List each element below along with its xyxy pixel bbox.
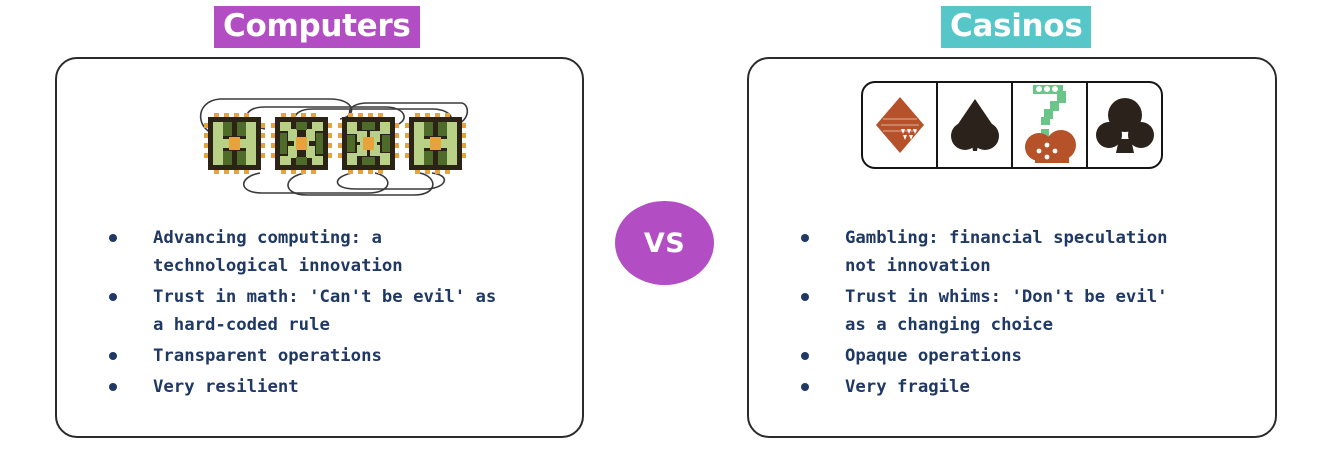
microchip-icon [338,113,399,174]
question-mark-and-heart-icon [1019,85,1081,165]
list-item-label: Very fragile [845,373,970,401]
club-icon [1094,89,1156,161]
slot-reel-cell-spade [938,83,1013,167]
left-panel-title: Computers [214,6,420,48]
slot-machine-illustration [749,81,1275,169]
bullet-point-icon [109,383,117,391]
networked-microchips-illustration [57,81,582,206]
bullet-point-icon [109,293,117,301]
right-panel-title: Casinos [941,6,1091,48]
versus-badge: VS [615,201,714,285]
list-item: Transparent operations [103,342,572,370]
spade-icon [944,89,1006,161]
list-item: Very fragile [795,373,1265,401]
bullet-point-icon [801,383,809,391]
bullet-point-icon [801,352,809,360]
computers-bullet-list: Advancing computing: a technological inn… [103,224,572,404]
list-item-label: Trust in whims: 'Don't be evil' as a cha… [845,283,1168,339]
list-item-label: Gambling: financial speculation not inno… [845,224,1168,280]
bullet-point-icon [109,234,117,242]
list-item-label: Very resilient [153,373,299,401]
list-item: Trust in math: 'Can't be evil' as a hard… [103,283,572,339]
slot-machine-frame [861,81,1163,169]
slot-reel-cell-club [1088,83,1161,167]
bullet-point-icon [801,293,809,301]
list-item: Very resilient [103,373,572,401]
casinos-panel: Gambling: financial speculation not inno… [747,57,1277,438]
list-item: Gambling: financial speculation not inno… [795,224,1265,280]
list-item-label: Trust in math: 'Can't be evil' as a hard… [153,283,496,339]
computers-panel: Advancing computing: a technological inn… [55,57,584,438]
list-item-label: Transparent operations [153,342,382,370]
bullet-point-icon [801,234,809,242]
microchip-icon [405,113,466,174]
diamond-icon [869,89,931,161]
list-item: Opaque operations [795,342,1265,370]
slot-reel-cell-diamond [863,83,938,167]
microchip-network-svg [170,81,470,206]
versus-label: VS [644,228,685,259]
microchip-icon [204,113,265,174]
list-item-label: Opaque operations [845,342,1022,370]
list-item: Trust in whims: 'Don't be evil' as a cha… [795,283,1265,339]
casinos-bullet-list: Gambling: financial speculation not inno… [795,224,1265,404]
list-item-label: Advancing computing: a technological inn… [153,224,403,280]
bullet-point-icon [109,352,117,360]
slot-reel-cell-question-heart [1013,83,1088,167]
list-item: Advancing computing: a technological inn… [103,224,572,280]
microchip-icon [271,113,332,174]
